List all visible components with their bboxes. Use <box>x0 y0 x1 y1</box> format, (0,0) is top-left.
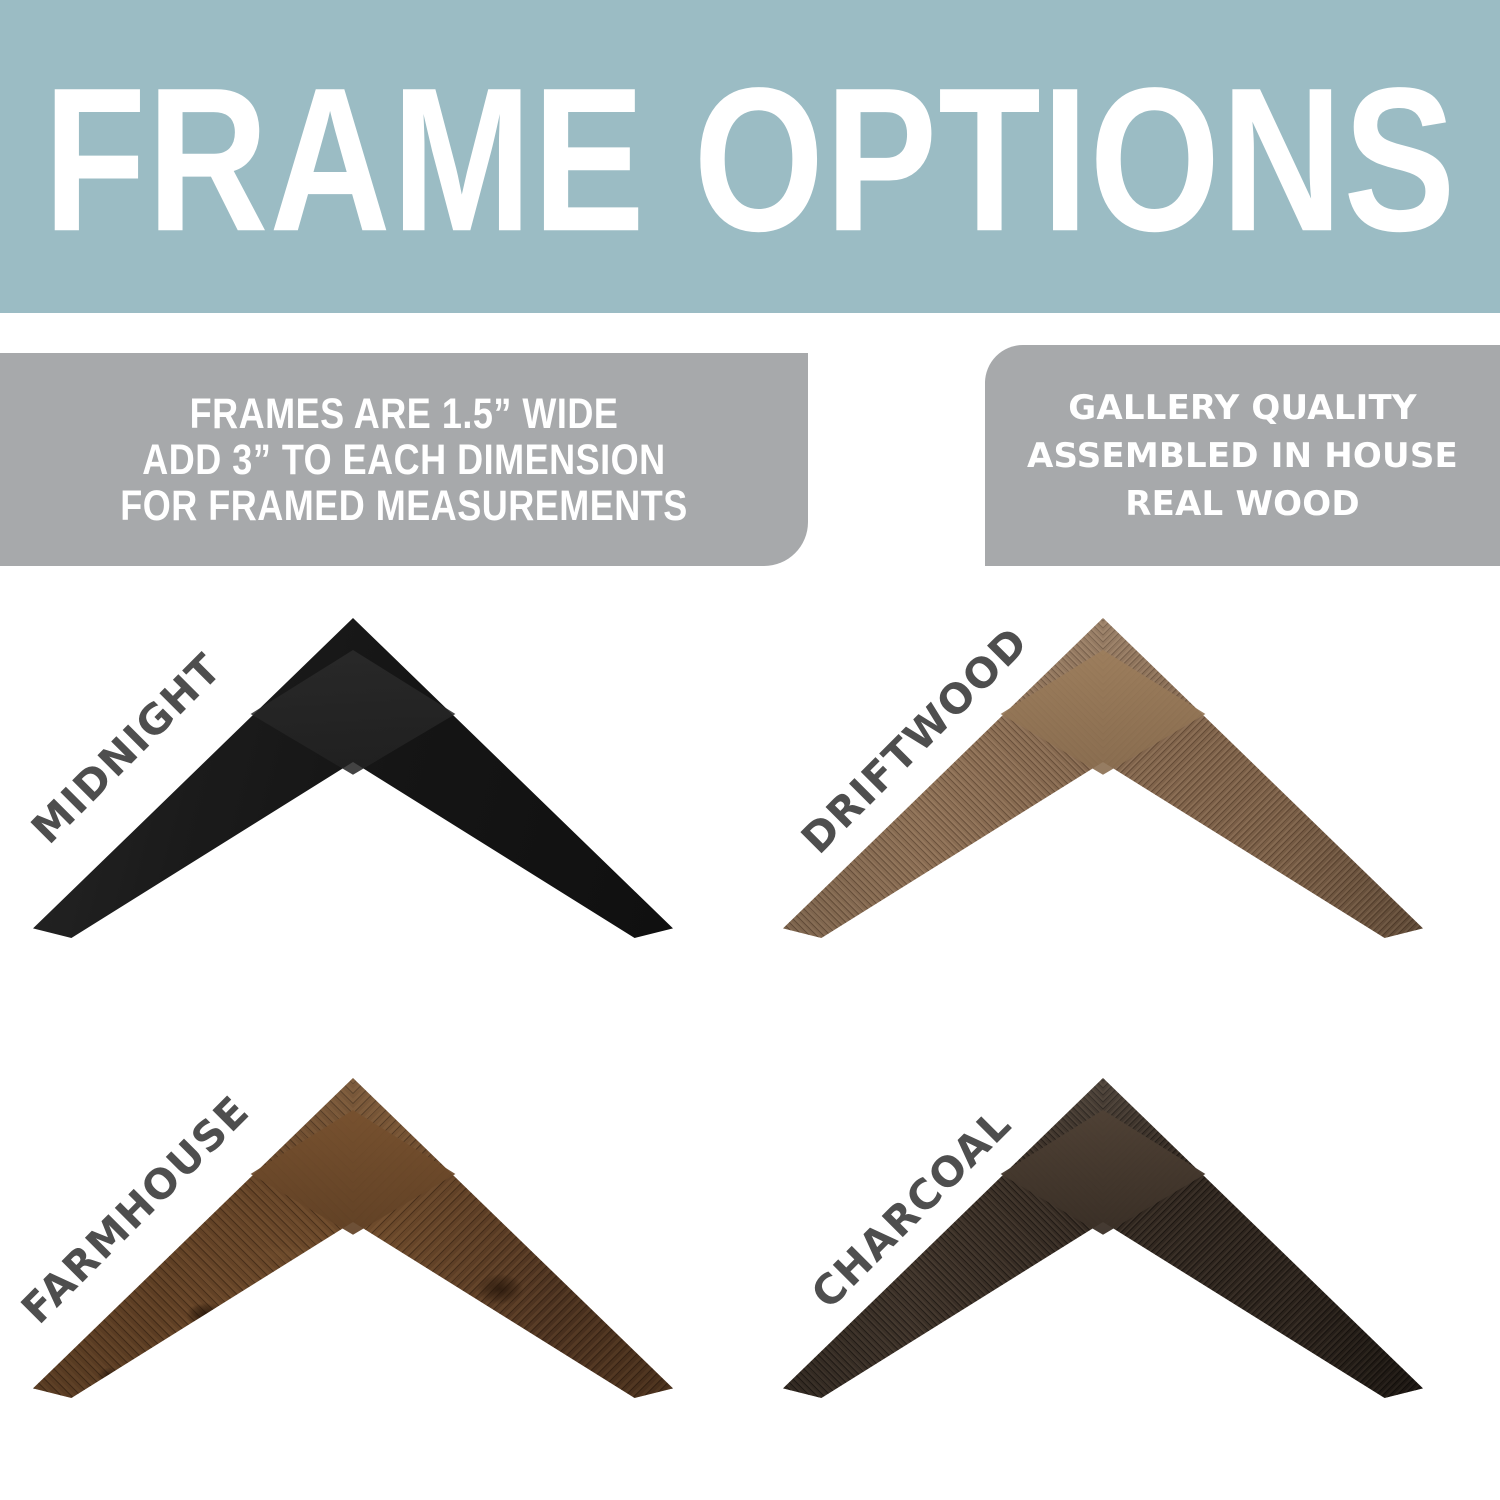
sizing-info-line-3: FOR FRAMED MEASUREMENTS <box>120 478 688 532</box>
quality-info-line-3: REAL WOOD <box>1125 480 1360 528</box>
page-title: FRAME OPTIONS <box>43 52 1456 262</box>
frame-swatch-midnight[interactable] <box>0 590 750 1010</box>
quality-info-banner: GALLERY QUALITY ASSEMBLED IN HOUSE REAL … <box>985 345 1500 566</box>
frame-swatch-grid <box>0 590 1500 1470</box>
quality-info-line-1: GALLERY QUALITY <box>1068 384 1416 432</box>
header-banner: FRAME OPTIONS <box>0 0 1500 313</box>
frame-options-infographic: FRAME OPTIONS FRAMES ARE 1.5” WIDE ADD 3… <box>0 0 1500 1500</box>
sizing-info-banner: FRAMES ARE 1.5” WIDE ADD 3” TO EACH DIME… <box>0 353 808 566</box>
quality-info-line-2: ASSEMBLED IN HOUSE <box>1027 432 1458 480</box>
